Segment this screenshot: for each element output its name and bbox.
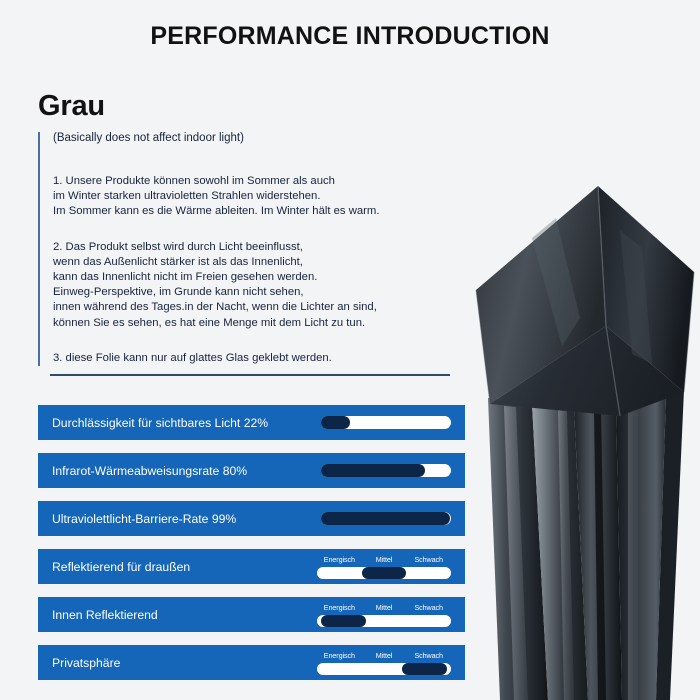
segment-slider-inside-reflective[interactable]: Energisch Mittel Schwach: [317, 602, 451, 628]
progress-bar-uv: [321, 512, 451, 525]
progress-bar-visible-light: [321, 416, 451, 429]
segment-label-high: Schwach: [406, 602, 451, 613]
spec-row-privacy: Privatsphäre Energisch Mittel Schwach: [38, 645, 465, 680]
segment-label-mid: Mittel: [362, 602, 407, 613]
page-title: PERFORMANCE INTRODUCTION: [0, 22, 700, 51]
progress-fill: [321, 464, 425, 477]
product-image-window-film-roll: [470, 168, 700, 700]
paragraph-1: 1. Unsere Produkte können sowohl im Somm…: [53, 174, 468, 220]
segment-label-mid: Mittel: [362, 650, 407, 661]
segment-label-low: Energisch: [317, 602, 362, 613]
segment-slider-privacy[interactable]: Energisch Mittel Schwach: [317, 650, 451, 676]
spec-list: Durchlässigkeit für sichtbares Licht 22%…: [38, 405, 465, 693]
section-divider: [50, 374, 450, 376]
spec-row-outside-reflective: Reflektierend für draußen Energisch Mitt…: [38, 549, 465, 584]
spec-label: Innen Reflektierend: [38, 608, 158, 622]
paragraph-3: 3. diese Folie kann nur auf glattes Glas…: [53, 351, 468, 366]
segment-track[interactable]: [317, 567, 451, 579]
segment-labels: Energisch Mittel Schwach: [317, 554, 451, 565]
segment-label-mid: Mittel: [362, 554, 407, 565]
progress-fill: [321, 512, 450, 525]
segment-label-high: Schwach: [406, 650, 451, 661]
segment-knob[interactable]: [321, 615, 366, 627]
section-heading-color-name: Grau: [38, 90, 105, 123]
segment-track[interactable]: [317, 615, 451, 627]
segment-knob[interactable]: [362, 567, 407, 579]
segment-label-low: Energisch: [317, 554, 362, 565]
progress-bar-infrared: [321, 464, 451, 477]
description-text-block: (Basically does not affect indoor light)…: [38, 132, 468, 366]
segment-knob[interactable]: [402, 663, 447, 675]
segment-slider-outside-reflective[interactable]: Energisch Mittel Schwach: [317, 554, 451, 580]
segment-label-high: Schwach: [406, 554, 451, 565]
segment-labels: Energisch Mittel Schwach: [317, 650, 451, 661]
spec-label: Ultraviolettlicht-Barriere-Rate 99%: [38, 512, 236, 526]
progress-fill: [321, 416, 350, 429]
spec-row-inside-reflective: Innen Reflektierend Energisch Mittel Sch…: [38, 597, 465, 632]
spec-label: Reflektierend für draußen: [38, 560, 190, 574]
segment-labels: Energisch Mittel Schwach: [317, 602, 451, 613]
paragraph-2: 2. Das Produkt selbst wird durch Licht b…: [53, 240, 468, 331]
spec-label: Durchlässigkeit für sichtbares Licht 22%: [38, 416, 268, 430]
segment-label-low: Energisch: [317, 650, 362, 661]
subtitle-note: (Basically does not affect indoor light): [53, 132, 468, 144]
spec-row-infrared-heat-rejection: Infrarot-Wärmeabweisungsrate 80%: [38, 453, 465, 488]
spec-label: Infrarot-Wärmeabweisungsrate 80%: [38, 464, 247, 478]
spec-row-visible-light-transmission: Durchlässigkeit für sichtbares Licht 22%: [38, 405, 465, 440]
spec-row-uv-barrier-rate: Ultraviolettlicht-Barriere-Rate 99%: [38, 501, 465, 536]
segment-track[interactable]: [317, 663, 451, 675]
spec-label: Privatsphäre: [38, 656, 120, 670]
